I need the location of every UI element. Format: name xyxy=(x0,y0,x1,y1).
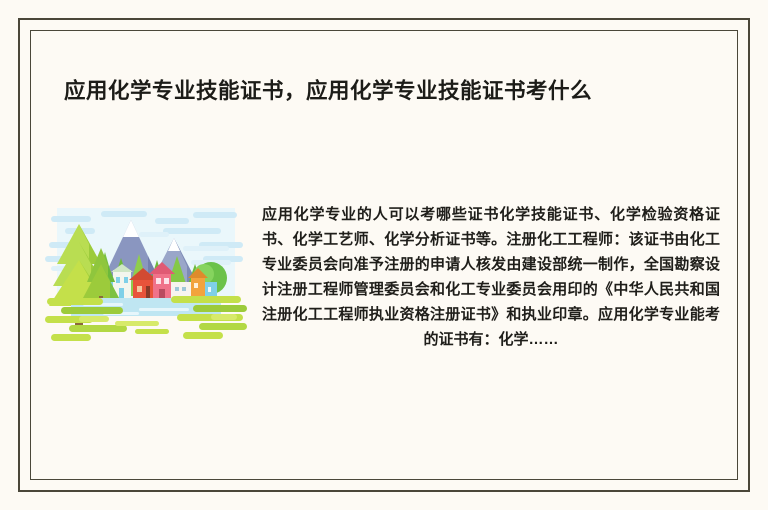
body-paragraph: 应用化学专业的人可以考哪些证书化学技能证书、化学检验资格证书、化学工艺师、化学分… xyxy=(262,202,720,352)
grass-group-right xyxy=(171,296,247,339)
content-area: 应用化学专业的人可以考哪些证书化学技能证书、化学检验资格证书、化学工艺师、化学分… xyxy=(30,190,738,410)
article-body: 应用化学专业的人可以考哪些证书化学技能证书、化学检验资格证书、化学工艺师、化学分… xyxy=(262,190,738,352)
illustration-container xyxy=(30,190,262,358)
house-white-small xyxy=(171,282,191,298)
page-root: 应用化学专业技能证书，应用化学专业技能证书考什么 xyxy=(0,0,768,510)
flat-landscape-illustration xyxy=(43,198,249,358)
page-title: 应用化学专业技能证书，应用化学专业技能证书考什么 xyxy=(64,76,724,106)
